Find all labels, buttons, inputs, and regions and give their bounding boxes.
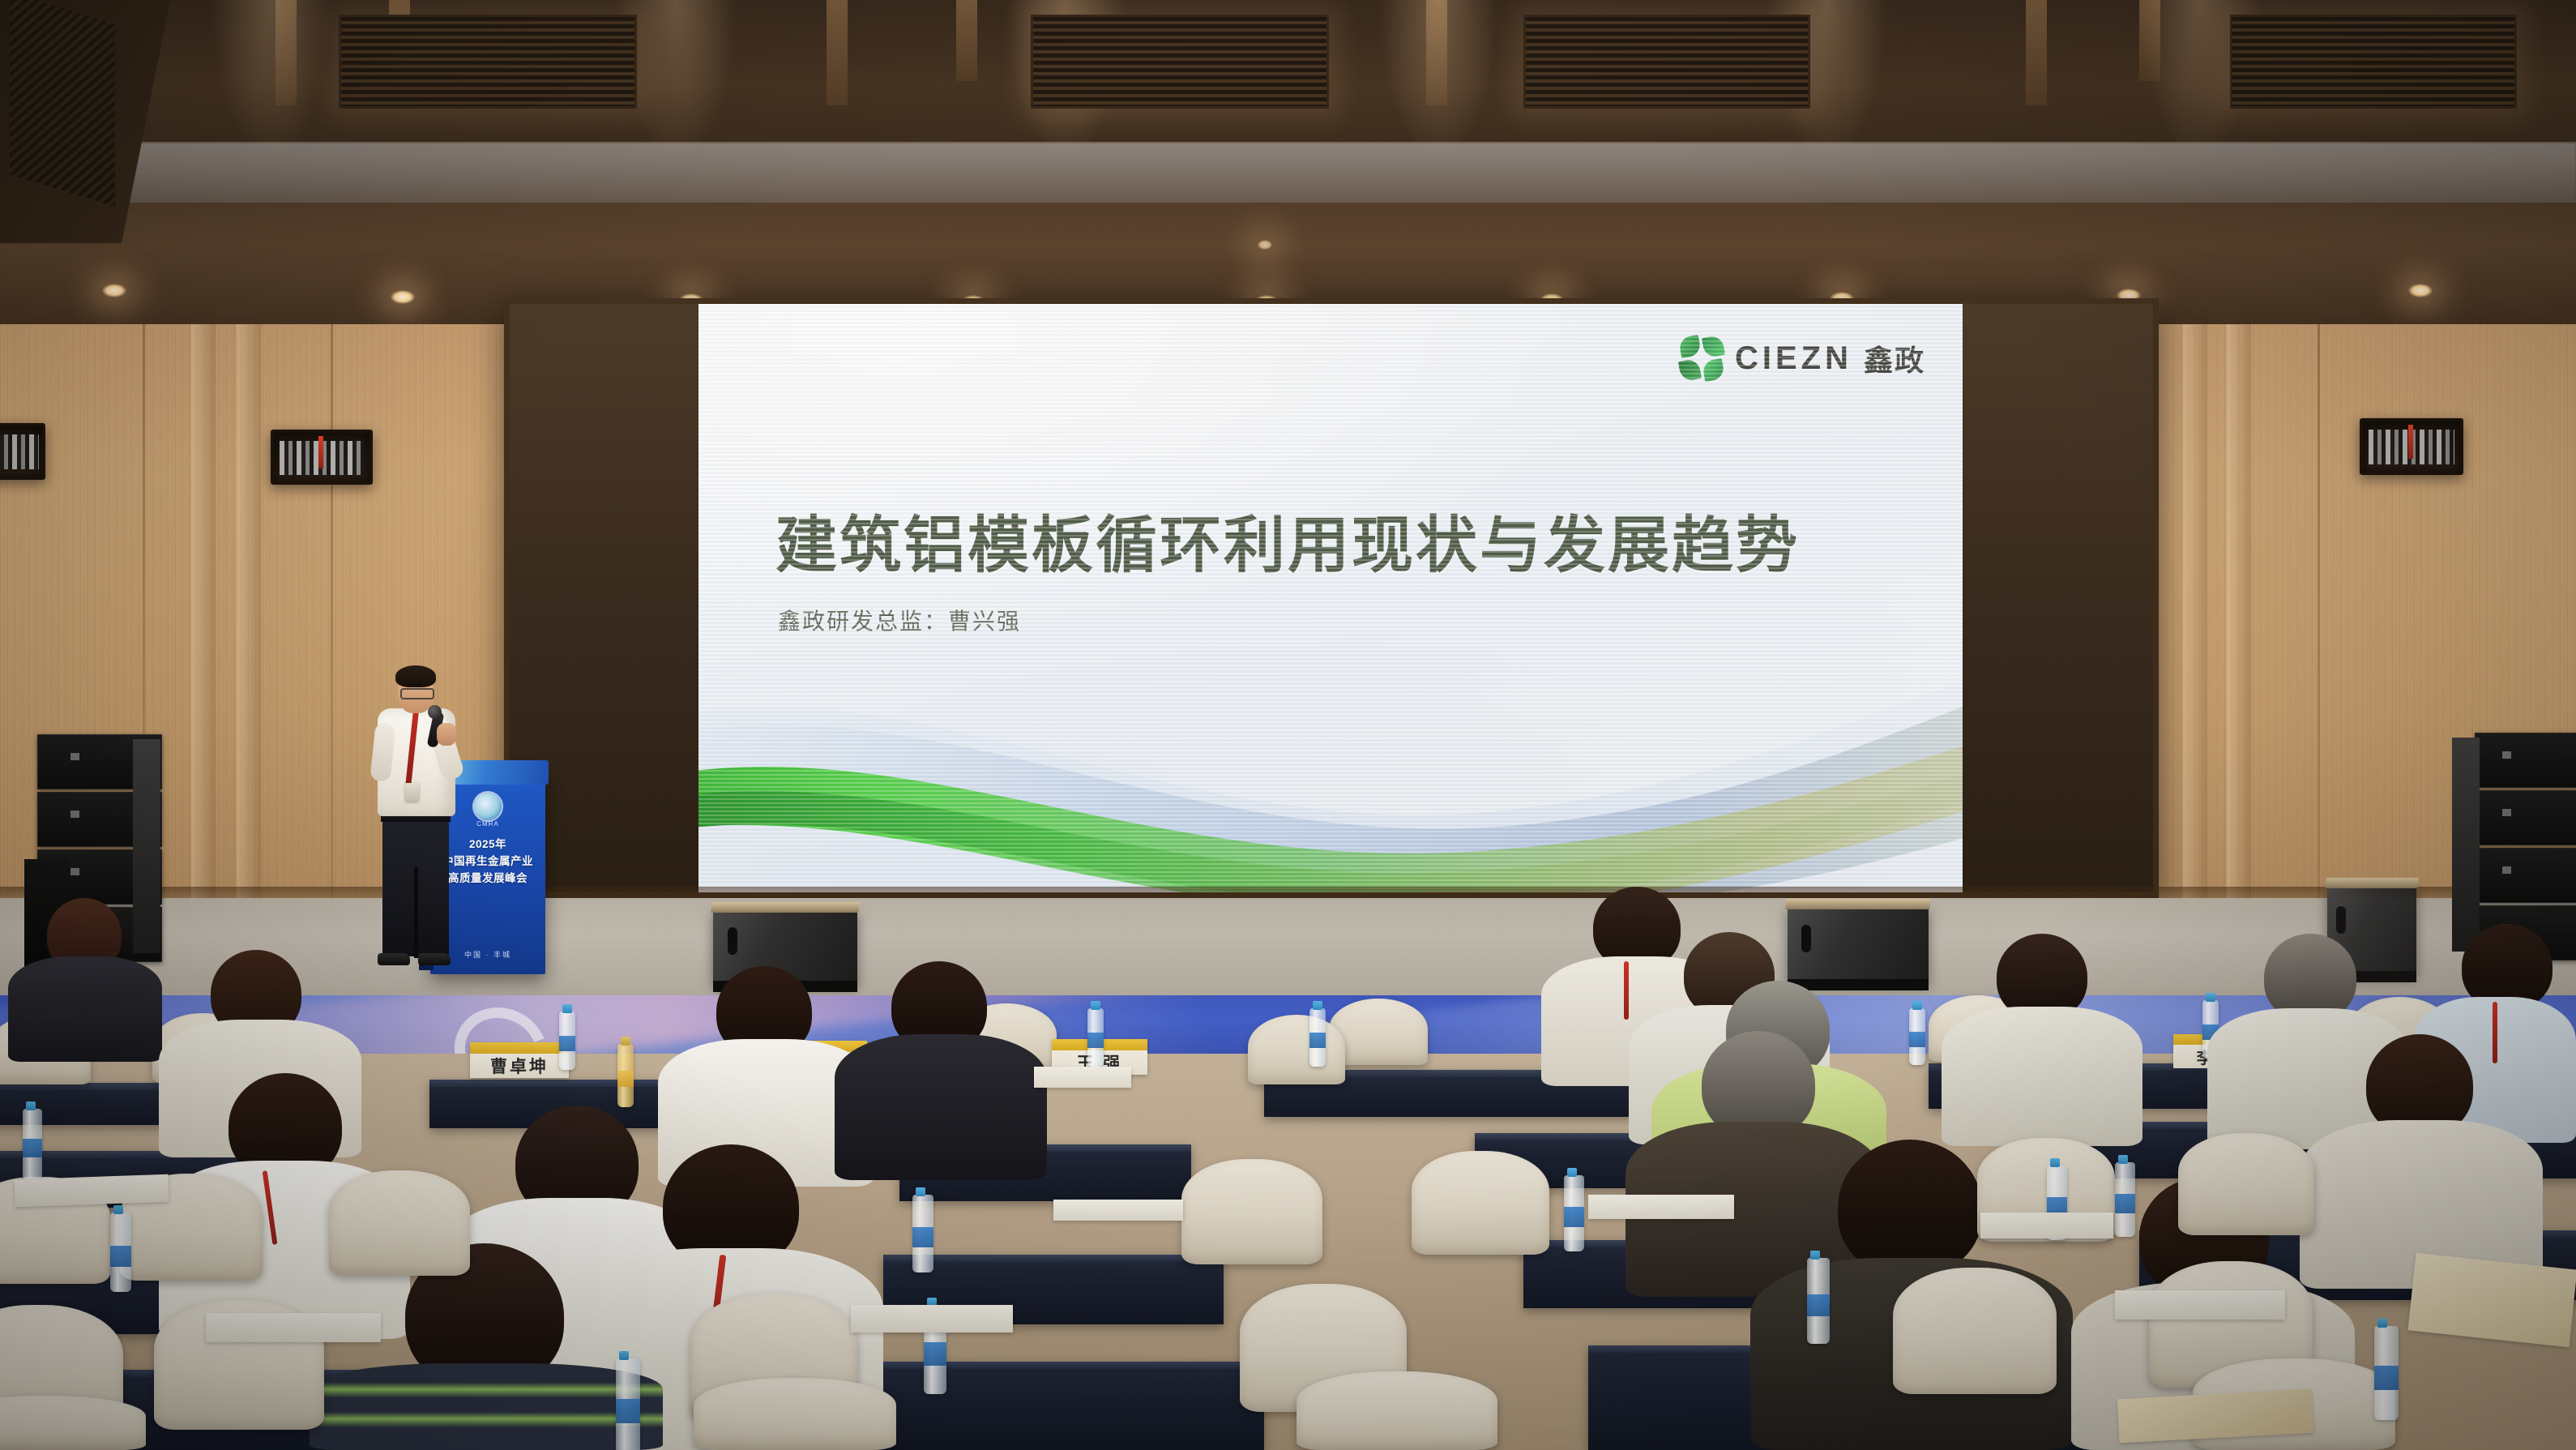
- niche-red-accent-icon: [318, 436, 323, 469]
- notepad: [1034, 1067, 1131, 1088]
- water-bottle: [1807, 1258, 1830, 1344]
- ceiling-light-wash: [211, 0, 332, 162]
- water-bottle: [912, 1195, 933, 1272]
- ceiling-vent-grille-icon: [1523, 15, 1810, 109]
- presenter-badge: [405, 783, 419, 802]
- audience-chair: [2178, 1133, 2314, 1235]
- presentation-slide[interactable]: CIEZN 鑫政 建筑铝模板循环利用现状与发展趋势 鑫政研发总监：曹兴强: [698, 304, 1963, 892]
- audience-chair: [1248, 1015, 1345, 1084]
- audience-chair: [1297, 1371, 1497, 1450]
- water-bottle: [2115, 1162, 2135, 1237]
- notepad: [1588, 1195, 1734, 1219]
- niche-objects-icon: [0, 434, 39, 469]
- water-bottle: [559, 1012, 575, 1070]
- ciezn-pinwheel-logo-icon: [1680, 336, 1724, 380]
- water-bottle: [2374, 1326, 2399, 1420]
- water-bottle: [616, 1358, 640, 1450]
- niche-red-accent-icon: [2408, 425, 2413, 459]
- audience-person-body: [310, 1363, 663, 1450]
- audience-person-body: [8, 956, 162, 1062]
- eyeglasses-icon: [400, 688, 434, 699]
- table-name-card: 曹卓坤: [470, 1042, 569, 1078]
- water-bottle: [1909, 1008, 1925, 1065]
- lanyard: [1624, 961, 1629, 1020]
- ceiling-smoke-detector-icon: [1258, 240, 1272, 250]
- notepad: [1980, 1213, 2113, 1238]
- ceiling-light-cove: [0, 143, 2576, 206]
- ceiling-vent-grille-icon: [339, 15, 637, 109]
- water-bottle: [1564, 1175, 1584, 1251]
- ceiling-vent-grille-icon: [1031, 15, 1329, 109]
- water-bottle: [23, 1109, 42, 1180]
- downlight-icon: [2408, 284, 2433, 297]
- audience-chair: [0, 1396, 146, 1450]
- audience-chair: [1181, 1159, 1322, 1264]
- wall-display-niche: [0, 423, 45, 480]
- ceiling-light-wash: [1378, 0, 1499, 162]
- audience-person-body: [1942, 1007, 2142, 1146]
- cmra-logo-icon: [474, 793, 502, 820]
- slide-logo: CIEZN 鑫政: [1680, 336, 1925, 380]
- water-bottle: [1087, 1008, 1104, 1067]
- open-brochure: [1053, 1200, 1183, 1221]
- notepad: [206, 1313, 381, 1342]
- water-bottle: [1309, 1008, 1326, 1067]
- ceiling-slot-grille-icon: [10, 0, 115, 207]
- wall-display-niche: [2360, 418, 2463, 475]
- notepad: [2115, 1290, 2285, 1320]
- slide-subtitle: 鑫政研发总监：曹兴强: [778, 604, 1021, 636]
- juice-bottle: [617, 1044, 634, 1107]
- lanyard: [2493, 1002, 2497, 1063]
- podium-org-abbr: CMRA: [476, 820, 499, 828]
- downlight-icon: [102, 284, 126, 297]
- audience-chair: [1893, 1268, 2057, 1394]
- ceiling-beam: [2026, 0, 2047, 105]
- audience-person-body: [835, 1034, 1047, 1180]
- audience-chair: [1412, 1151, 1549, 1255]
- led-video-wall[interactable]: CIEZN 鑫政 建筑铝模板循环利用现状与发展趋势 鑫政研发总监：曹兴强: [504, 298, 2159, 898]
- ceiling: [0, 0, 2576, 349]
- logo-wordmark-cn: 鑫政: [1864, 337, 1925, 379]
- wall-display-niche: [271, 430, 373, 485]
- water-bottle: [110, 1213, 131, 1292]
- notepad: [14, 1174, 169, 1208]
- notepad: [851, 1305, 1013, 1332]
- audience-chair: [694, 1378, 896, 1450]
- stage-floor-monitor: [1788, 906, 1929, 982]
- audience-person-head: [1838, 1140, 1982, 1276]
- conference-hall-scene: CIEZN 鑫政 建筑铝模板循环利用现状与发展趋势 鑫政研发总监：曹兴强: [0, 0, 2576, 1450]
- ceiling-vent-grille-icon: [2230, 15, 2517, 109]
- ceiling-beam: [956, 0, 977, 81]
- microphone-head-icon: [428, 705, 442, 719]
- logo-wordmark: CIEZN: [1735, 340, 1852, 377]
- downlight-icon: [391, 290, 415, 304]
- name-card-label: 曹卓坤: [470, 1054, 569, 1078]
- slide-wave-graphic-icon: [698, 598, 1963, 892]
- led-wall-right-panel: [1954, 304, 2153, 892]
- slide-title: 建筑铝模板循环利用现状与发展趋势: [775, 495, 1800, 584]
- ceiling-beam: [827, 0, 848, 105]
- audience-chair: [329, 1170, 470, 1276]
